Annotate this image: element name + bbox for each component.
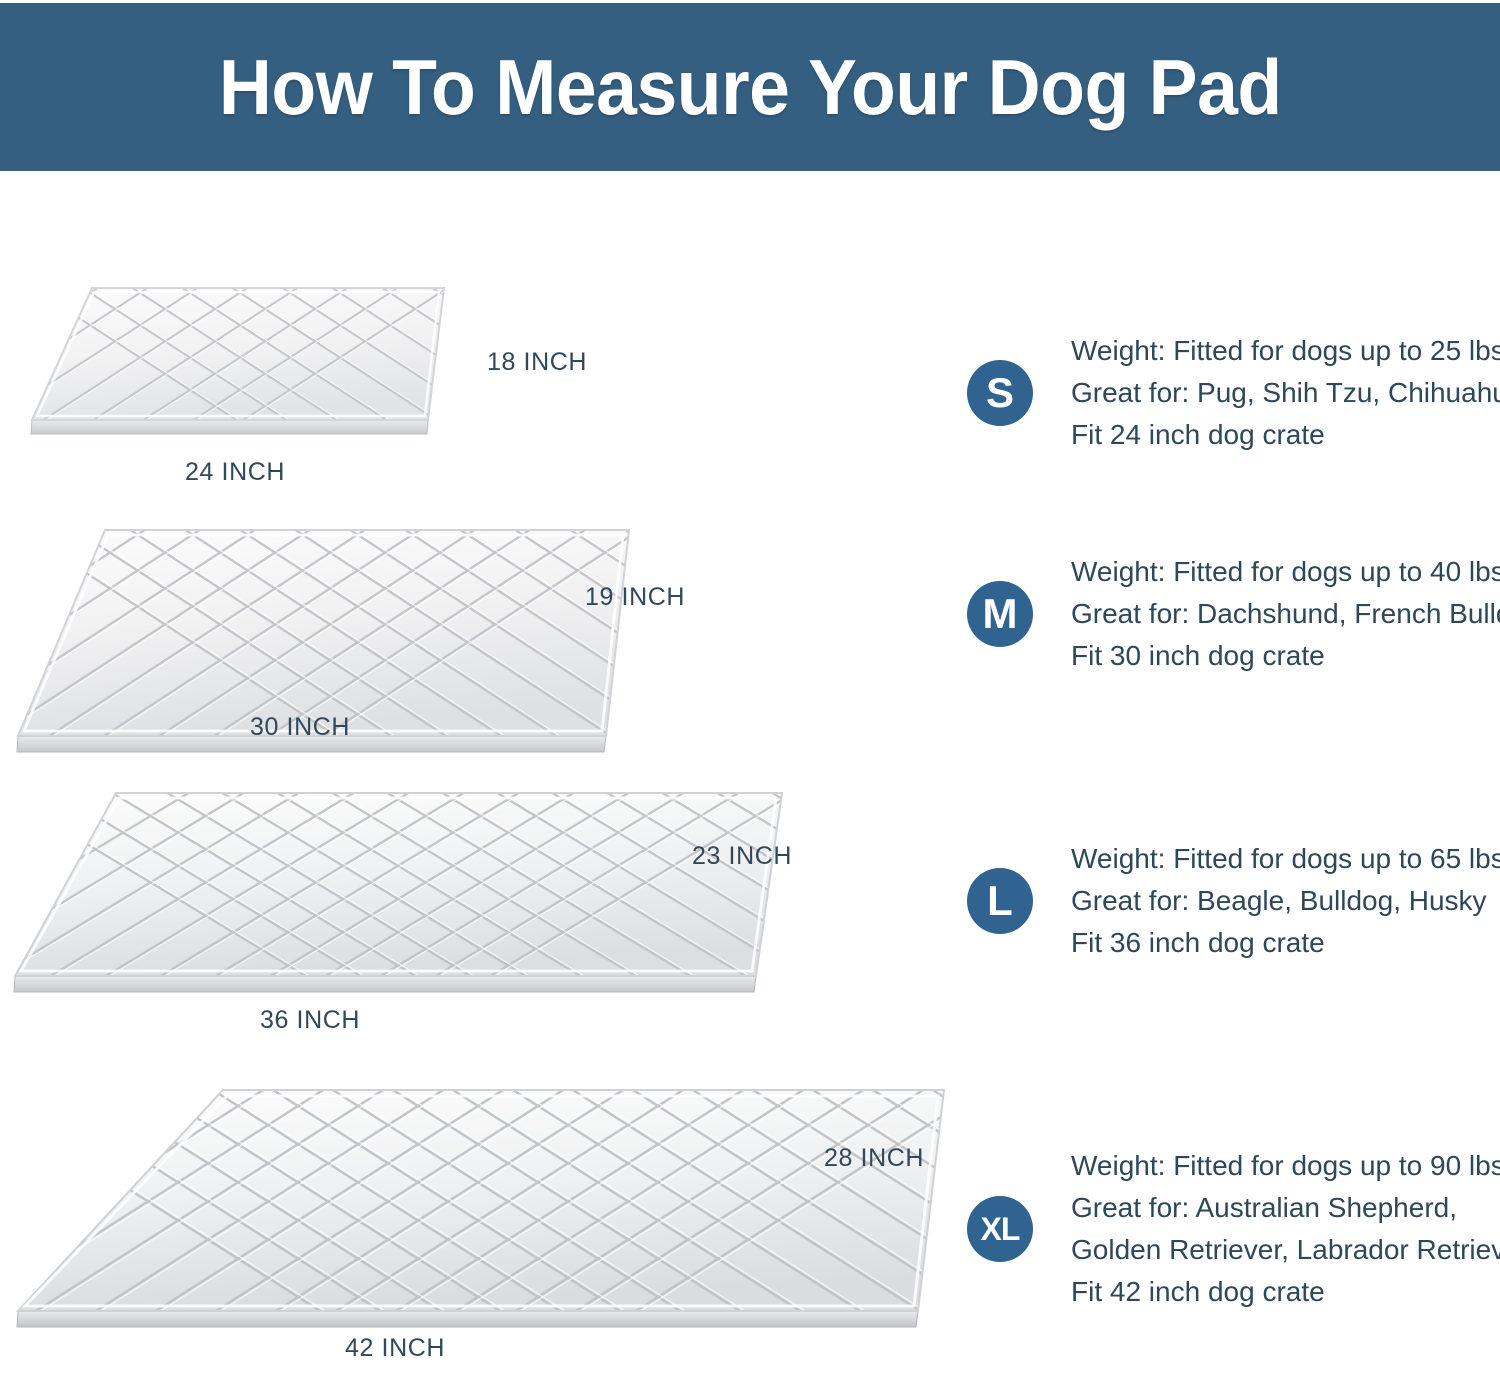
quilted-dog-pad-xlarge-svg	[8, 1086, 958, 1336]
size-spec-xl: XL Weight: Fitted for dogs up to 90 lbs …	[967, 1145, 1500, 1313]
spec-line-weight: Weight: Fitted for dogs up to 90 lbs	[1071, 1145, 1500, 1187]
size-badge-l: L	[967, 868, 1033, 934]
pad-width-label-small: 24 INCH	[175, 458, 295, 487]
pad-image-large	[8, 788, 788, 1006]
size-spec-column: S Weight: Fitted for dogs up to 25 lbs G…	[960, 0, 1500, 1373]
spec-line-breeds: Great for: Pug, Shih Tzu, Chihuahua	[1071, 372, 1500, 414]
pad-depth-label-small: 18 INCH	[487, 348, 587, 377]
size-badge-xl: XL	[967, 1196, 1033, 1262]
spec-line-breeds-2: Golden Retriever, Labrador Retriever	[1071, 1229, 1500, 1271]
size-badge-m: M	[967, 581, 1033, 647]
pad-image-xlarge	[8, 1086, 958, 1336]
pad-width-label-xlarge: 42 INCH	[330, 1334, 460, 1363]
size-spec-s: S Weight: Fitted for dogs up to 25 lbs G…	[967, 330, 1500, 456]
spec-line-breeds: Great for: Dachshund, French Bulldog	[1071, 593, 1500, 635]
pad-width-label-large: 36 INCH	[250, 1006, 370, 1035]
pad-depth-label-xlarge: 28 INCH	[824, 1144, 924, 1173]
pad-depth-label-large: 23 INCH	[692, 842, 792, 871]
size-spec-l: L Weight: Fitted for dogs up to 65 lbs G…	[967, 838, 1500, 964]
size-spec-text-l: Weight: Fitted for dogs up to 65 lbs Gre…	[1071, 838, 1500, 964]
infographic-page: How To Measure Your Dog Pad	[0, 0, 1500, 1373]
size-spec-text-xl: Weight: Fitted for dogs up to 90 lbs Gre…	[1071, 1145, 1500, 1313]
pad-image-small	[20, 284, 450, 449]
pad-illustration-column: 24 INCH 18 INCH	[0, 0, 960, 1373]
spec-line-weight: Weight: Fitted for dogs up to 25 lbs	[1071, 330, 1500, 372]
spec-line-weight: Weight: Fitted for dogs up to 40 lbs	[1071, 551, 1500, 593]
quilted-dog-pad-large-svg	[8, 788, 788, 1006]
spec-line-crate: Fit 36 inch dog crate	[1071, 922, 1500, 964]
size-spec-text-s: Weight: Fitted for dogs up to 25 lbs Gre…	[1071, 330, 1500, 456]
size-spec-m: M Weight: Fitted for dogs up to 40 lbs G…	[967, 551, 1500, 677]
spec-line-crate: Fit 30 inch dog crate	[1071, 635, 1500, 677]
spec-line-crate: Fit 42 inch dog crate	[1071, 1271, 1500, 1313]
size-badge-s: S	[967, 360, 1033, 426]
spec-line-breeds-1: Great for: Australian Shepherd,	[1071, 1187, 1500, 1229]
pad-depth-label-medium: 19 INCH	[585, 583, 685, 612]
spec-line-weight: Weight: Fitted for dogs up to 65 lbs	[1071, 838, 1500, 880]
spec-line-breeds: Great for: Beagle, Bulldog, Husky	[1071, 880, 1500, 922]
size-spec-text-m: Weight: Fitted for dogs up to 40 lbs Gre…	[1071, 551, 1500, 677]
pad-width-label-medium: 30 INCH	[240, 713, 360, 742]
quilted-dog-pad-small-svg	[20, 284, 450, 449]
spec-line-crate: Fit 24 inch dog crate	[1071, 414, 1500, 456]
